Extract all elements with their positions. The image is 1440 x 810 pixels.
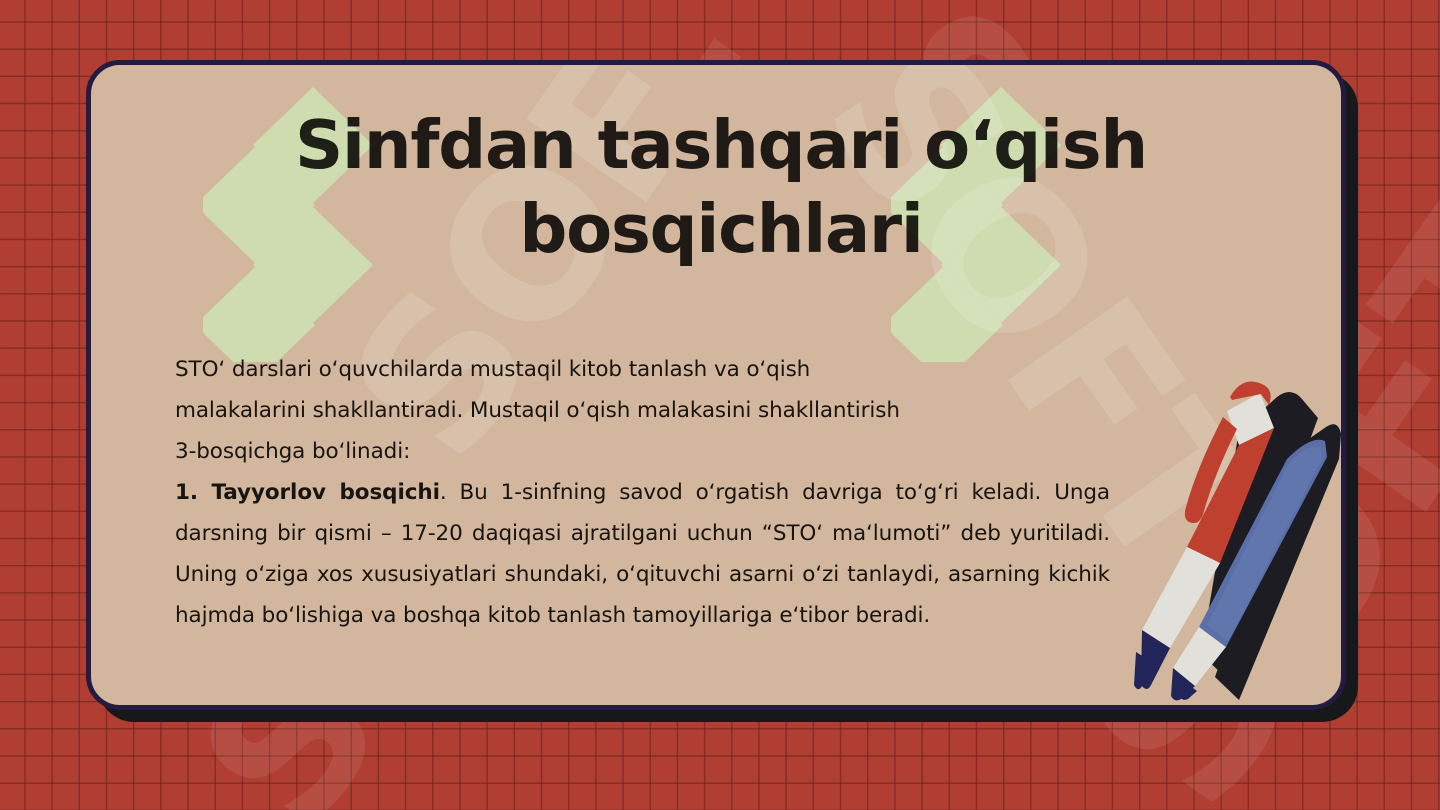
title-line-1: Sinfdan tashqari o‘qish bbox=[295, 106, 1147, 184]
body-text-block: STO‘ darslari o‘quvchilarda mustaqil kit… bbox=[175, 349, 1110, 636]
paragraph-intro-line-2: malakalarini shakllantiradi. Mustaqil o‘… bbox=[175, 390, 1110, 431]
slide-canvas: SOFT SOFT SOFT SOFT SOFT SOFT bbox=[0, 0, 1440, 810]
page-title: Sinfdan tashqari o‘qish bosqichlari bbox=[155, 103, 1287, 272]
list-item-stage-1-lead: 1. Tayyorlov bosqichi bbox=[175, 480, 440, 505]
title-line-2: bosqichlari bbox=[519, 190, 922, 268]
paragraph-intro-line-3: 3-bosqichga bo‘linadi: bbox=[175, 431, 1110, 472]
list-item-stage-1: 1. Tayyorlov bosqichi. Bu 1-sinfning sav… bbox=[175, 472, 1110, 636]
two-ballpoint-pens-illustration bbox=[1111, 355, 1341, 700]
content-card: SOFT SOFT Sinfdan tashqari o‘qish bosqic… bbox=[86, 60, 1346, 710]
paragraph-intro-line-1: STO‘ darslari o‘quvchilarda mustaqil kit… bbox=[175, 349, 1110, 390]
